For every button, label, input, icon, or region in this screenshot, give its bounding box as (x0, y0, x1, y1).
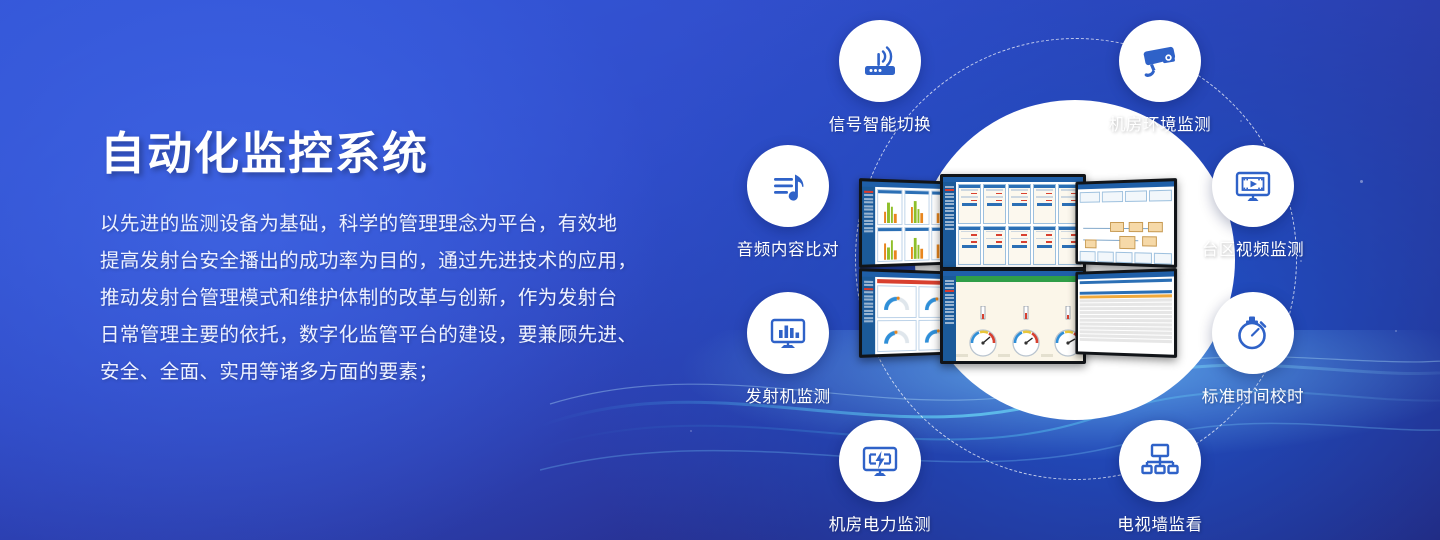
automation-monitoring-banner: 自动化监控系统 以先进的监测设备为基础，科学的管理理念为平台，有效地 提高发射台… (0, 0, 1440, 540)
screen-content-data-table (1078, 276, 1174, 354)
description-line: 安全、全面、实用等诸多方面的要素； (100, 354, 700, 391)
feature-node-time-sync[interactable]: 标准时间校时 (1178, 292, 1328, 407)
feature-bubble[interactable] (839, 20, 921, 102)
router-wifi-icon (858, 39, 902, 83)
description-line: 提高发射台安全播出的成功率为目的，通过先进技术的应用， (100, 243, 700, 280)
feature-bubble[interactable] (1212, 145, 1294, 227)
banner-copy: 自动化监控系统 以先进的监测设备为基础，科学的管理理念为平台，有效地 提高发射台… (100, 128, 700, 391)
feature-wheel: 信号智能切换 机房环境监测 (700, 0, 1440, 540)
feature-bubble[interactable] (747, 292, 829, 374)
background-particle (690, 430, 692, 432)
feature-bubble[interactable] (839, 420, 921, 502)
feature-bubble[interactable] (1119, 420, 1201, 502)
description-line: 推动发射台管理模式和维护体制的改革与创新，作为发射台 (100, 280, 700, 317)
screen-content-schematic (1078, 186, 1174, 264)
feature-node-tv-wall[interactable]: 电视墙监看 (1085, 420, 1235, 535)
feature-bubble[interactable] (1119, 20, 1201, 102)
feature-label: 台区视频监测 (1178, 236, 1328, 260)
screen-content-dial-gauges (956, 276, 1083, 361)
feature-node-room-power[interactable]: 机房电力监测 (805, 420, 955, 535)
feature-node-signal-switch[interactable]: 信号智能切换 (805, 20, 955, 135)
feature-node-room-environment[interactable]: 机房环境监测 (1085, 20, 1235, 135)
monitor-battery-icon (857, 438, 903, 484)
stopwatch-icon (1230, 310, 1276, 356)
description-line: 以先进的监测设备为基础，科学的管理理念为平台，有效地 (100, 206, 700, 243)
monitor-barchart-icon (765, 310, 811, 356)
screen-sidebar (943, 182, 956, 267)
security-camera-icon (1137, 38, 1183, 84)
monitor-wall (858, 170, 1198, 365)
monitor-screen (940, 174, 1086, 270)
feature-label: 标准时间校时 (1178, 383, 1328, 407)
feature-label: 电视墙监看 (1085, 511, 1235, 535)
feature-label: 机房电力监测 (805, 511, 955, 535)
feature-node-area-video[interactable]: 台区视频监测 (1178, 145, 1328, 260)
feature-label: 发射机监测 (713, 383, 863, 407)
feature-bubble[interactable] (1212, 292, 1294, 374)
monitor-video-icon (1230, 163, 1276, 209)
screen-sidebar (862, 277, 875, 355)
description-line: 日常管理主要的依托，数字化监管平台的建设，要兼顾先进、 (100, 317, 700, 354)
screen-sidebar (862, 187, 875, 265)
monitor-screen (940, 268, 1086, 364)
music-note-icon (766, 164, 810, 208)
banner-description: 以先进的监测设备为基础，科学的管理理念为平台，有效地 提高发射台安全播出的成功率… (100, 206, 700, 391)
feature-node-audio-compare[interactable]: 音频内容比对 (713, 145, 863, 260)
screen-sidebar (943, 276, 956, 361)
tv-wall-hierarchy-icon (1137, 438, 1183, 484)
feature-label: 机房环境监测 (1085, 111, 1235, 135)
screen-content-card-grid (956, 182, 1083, 267)
monitor-screen (1075, 268, 1177, 358)
feature-node-transmitter-monitor[interactable]: 发射机监测 (713, 292, 863, 407)
monitor-screen (1075, 178, 1177, 268)
feature-bubble[interactable] (747, 145, 829, 227)
feature-label: 音频内容比对 (713, 236, 863, 260)
feature-label: 信号智能切换 (805, 111, 955, 135)
page-title: 自动化监控系统 (100, 128, 700, 180)
